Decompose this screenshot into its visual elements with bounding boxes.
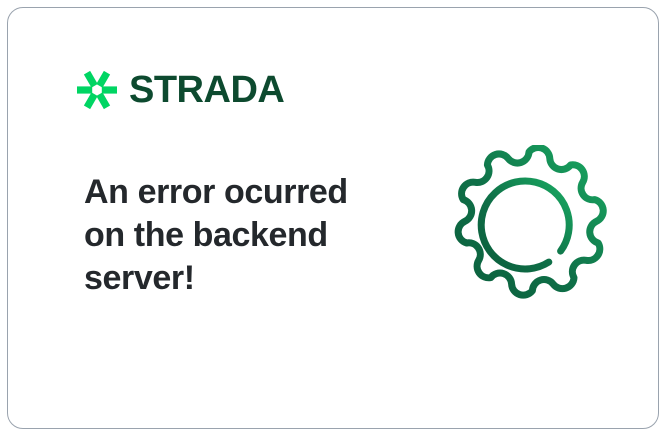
error-message: An error ocurred on the backend server! <box>84 171 374 300</box>
brand-wordmark: STRADA <box>129 71 284 109</box>
screen: STRADA An error ocurred on the backend s… <box>0 0 666 436</box>
strada-asterisk-icon <box>77 70 117 110</box>
brand-lockup: STRADA <box>77 70 284 110</box>
gear-cog-icon <box>448 145 610 307</box>
error-card: STRADA An error ocurred on the backend s… <box>7 7 659 429</box>
